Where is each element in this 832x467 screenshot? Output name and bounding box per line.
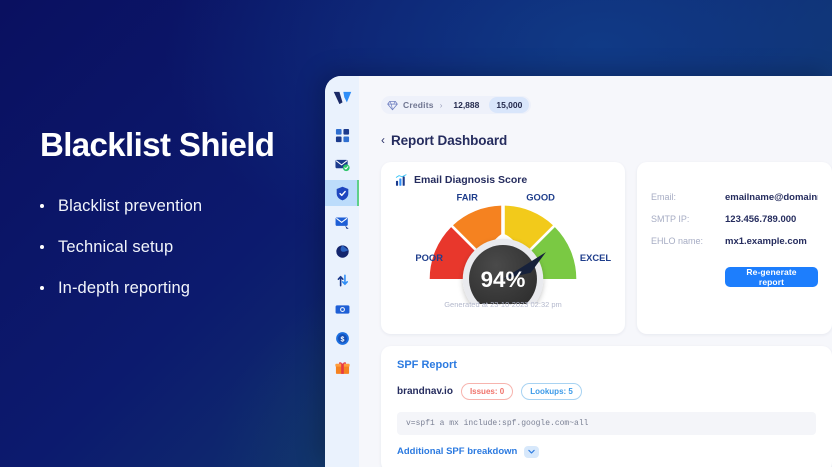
cards-row: Email Diagnosis Score — [381, 162, 832, 334]
detail-key: EHLO name: — [651, 236, 725, 246]
additional-spf-breakdown-toggle[interactable]: Additional SPF breakdown — [397, 446, 816, 458]
promo-bullet-item: Blacklist prevention — [40, 197, 340, 216]
sidebar-item-billing[interactable] — [325, 296, 359, 322]
spf-domain-row: brandnav.io Issues: 0 Lookups: 5 — [397, 383, 816, 400]
gauge-label-fair: FAIR — [457, 192, 479, 202]
gauge-label-excellent: EXCELLENT — [580, 253, 611, 263]
promo-bullet-label: Blacklist prevention — [58, 197, 202, 216]
credits-chip[interactable]: Credits › 12,888 15,000 — [381, 96, 531, 114]
shield-check-icon — [335, 186, 350, 201]
sidebar-item-inbox-placement[interactable] — [325, 209, 359, 235]
gift-icon — [335, 360, 350, 375]
promo-bullet-item: In-depth reporting — [40, 279, 340, 298]
brand-logo[interactable] — [331, 88, 353, 108]
globe-icon — [335, 244, 350, 259]
chevron-down-icon[interactable] — [524, 446, 539, 458]
bullet-dot-icon — [40, 286, 44, 290]
transfer-arrows-icon — [335, 273, 350, 288]
promo-bullet-list: Blacklist prevention Technical setup In-… — [40, 197, 340, 298]
spf-lookups-badge: Lookups: 5 — [521, 383, 582, 400]
app-sidebar: $ — [325, 76, 359, 467]
bullet-dot-icon — [40, 204, 44, 208]
spf-report-card: SPF Report brandnav.io Issues: 0 Lookups… — [381, 346, 832, 467]
page-title: Report Dashboard — [391, 133, 507, 148]
spf-record-code: v=spf1 a mx include:spf.google.com~all — [397, 412, 816, 435]
promo-bullet-item: Technical setup — [40, 238, 340, 257]
page-header: ‹ Report Dashboard — [381, 133, 832, 148]
sidebar-item-email-verify[interactable] — [325, 151, 359, 177]
sidebar-item-domain[interactable] — [325, 238, 359, 264]
promo-title: Blacklist Shield — [40, 128, 340, 163]
app-window: $ Credits — [325, 76, 832, 467]
detail-key: Email: — [651, 192, 725, 202]
additional-spf-breakdown-label: Additional SPF breakdown — [397, 446, 517, 457]
credits-total-value: 15,000 — [489, 97, 529, 113]
spf-domain-name: brandnav.io — [397, 386, 453, 397]
promo-bullet-label: In-depth reporting — [58, 279, 190, 298]
sidebar-item-dashboard[interactable] — [325, 122, 359, 148]
detail-key: SMTP IP: — [651, 214, 725, 224]
sidebar-item-blacklist-shield[interactable] — [325, 180, 359, 206]
coin-dollar-icon: $ — [335, 331, 350, 346]
credits-used-value: 12,888 — [448, 100, 484, 110]
report-details-list: Email: emailname@domainname.c SMTP IP: 1… — [651, 192, 818, 247]
credits-caret-icon: › — [440, 101, 443, 110]
report-details-card: Email: emailname@domainname.c SMTP IP: 1… — [637, 162, 832, 334]
screenshot-root: Blacklist Shield Blacklist prevention Te… — [0, 0, 832, 467]
back-chevron-icon[interactable]: ‹ — [381, 134, 385, 146]
inbox-placement-icon — [335, 215, 350, 230]
gauge-label-poor: POOR — [415, 253, 443, 263]
email-verify-icon — [335, 157, 350, 172]
sidebar-item-rewards[interactable] — [325, 354, 359, 380]
regenerate-report-button[interactable]: Re-generate report — [725, 267, 818, 287]
score-card-title: Email Diagnosis Score — [414, 174, 527, 186]
email-diagnosis-score-card: Email Diagnosis Score — [381, 162, 625, 334]
svg-text:$: $ — [340, 336, 344, 343]
gauge-svg: 94% POOR FAIR GOOD EXCELLENT — [395, 186, 611, 304]
detail-row-email: Email: emailname@domainname.c — [651, 192, 818, 203]
main-content: Credits › 12,888 15,000 ‹ Report Dashboa… — [359, 76, 832, 467]
detail-value: emailname@domainname.c — [725, 192, 818, 203]
gauge-value-label: 94% — [481, 267, 526, 292]
detail-row-ehlo-name: EHLO name: mx1.example.com — [651, 236, 818, 247]
gauge-label-good: GOOD — [526, 192, 555, 202]
detail-value: mx1.example.com — [725, 236, 807, 247]
sidebar-item-transfer[interactable] — [325, 267, 359, 293]
spf-issues-badge: Issues: 0 — [461, 383, 513, 400]
diamond-icon — [387, 100, 398, 111]
bullet-dot-icon — [40, 245, 44, 249]
promo-bullet-label: Technical setup — [58, 238, 173, 257]
score-gauge: 94% POOR FAIR GOOD EXCELLENT — [395, 191, 611, 299]
spf-report-title: SPF Report — [397, 359, 816, 371]
dashboard-grid-icon — [335, 128, 350, 143]
detail-row-smtp-ip: SMTP IP: 123.456.789.000 — [651, 214, 818, 225]
regenerate-button-row: Re-generate report — [651, 267, 818, 287]
sidebar-item-credits[interactable]: $ — [325, 325, 359, 351]
detail-value: 123.456.789.000 — [725, 214, 796, 225]
banknote-icon — [335, 302, 350, 317]
credits-label: Credits — [403, 100, 434, 110]
promo-panel: Blacklist Shield Blacklist prevention Te… — [40, 128, 340, 320]
